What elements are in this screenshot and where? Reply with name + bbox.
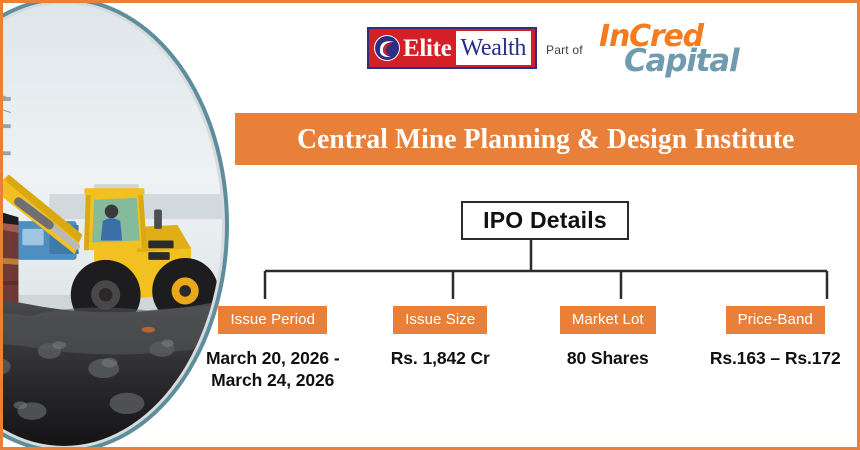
- header-logos: Elite Wealth Part of InCred Capital: [363, 21, 763, 83]
- elite-wealth-logo[interactable]: Elite Wealth: [367, 27, 537, 69]
- detail-column-market-lot: Market Lot 80 Shares: [524, 306, 692, 401]
- detail-value-issue-size: Rs. 1,842 Cr: [391, 347, 490, 369]
- status-badge: Issue Size: [393, 306, 487, 334]
- detail-value-price-band: Rs.163 – Rs.172: [710, 347, 841, 369]
- ipo-details-box: IPO Details: [461, 201, 629, 240]
- elite-e-swirl-icon: [372, 33, 402, 63]
- wealth-logo-box: Wealth: [456, 31, 532, 65]
- status-badge: Issue Period: [218, 306, 327, 334]
- page-title: Central Mine Planning & Design Institute: [297, 125, 794, 154]
- status-badge: Market Lot: [560, 306, 656, 334]
- elite-logo-text: Elite: [403, 36, 452, 61]
- wealth-logo-text: Wealth: [461, 36, 527, 60]
- detail-column-price-band: Price-Band Rs.163 – Rs.172: [692, 306, 860, 401]
- detail-column-issue-period: Issue Period March 20, 2026 - March 24, …: [189, 306, 357, 401]
- incred-capital-logo[interactable]: InCred Capital: [596, 21, 756, 81]
- ipo-details-columns: Issue Period March 20, 2026 - March 24, …: [189, 306, 859, 401]
- detail-value-market-lot: 80 Shares: [567, 347, 649, 369]
- part-of-label: Part of: [546, 43, 583, 57]
- status-badge: Price-Band: [726, 306, 825, 334]
- detail-column-issue-size: Issue Size Rs. 1,842 Cr: [357, 306, 525, 401]
- capital-logo-text: Capital: [624, 46, 738, 77]
- detail-value-issue-period: March 20, 2026 - March 24, 2026: [206, 347, 340, 392]
- ipo-details-label: IPO Details: [483, 209, 607, 232]
- title-banner: Central Mine Planning & Design Institute: [235, 113, 857, 165]
- ipo-banner-canvas: Elite Wealth Part of InCred Capital Cent…: [0, 0, 860, 450]
